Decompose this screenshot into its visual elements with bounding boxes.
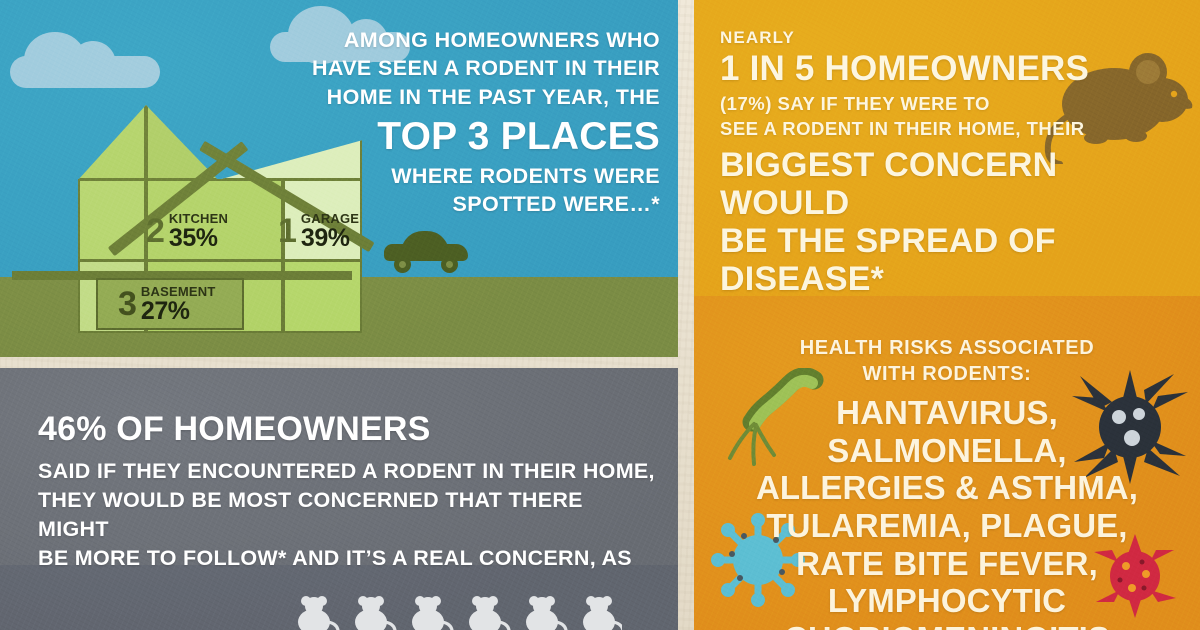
house-attic-left (78, 105, 146, 180)
yellow-line-1: (17%) SAY IF THEY WERE TO (720, 91, 1190, 116)
car-icon (384, 230, 468, 270)
health-risk-line-5: RATE BITE FEVER, (694, 545, 1200, 583)
health-risk-line-2: SALMONELLA, (694, 432, 1200, 470)
yellow-headline: 1 IN 5 HOMEOWNERS (720, 50, 1190, 88)
gray-line-1: SAID IF THEY ENCOUNTERED A RODENT IN THE… (38, 457, 658, 486)
health-risk-line-3: ALLERGIES & ASTHMA, (694, 469, 1200, 507)
headline-line-2: HAVE SEEN A RODENT IN THEIR (308, 54, 660, 82)
yellow-line-2: SEE A RODENT IN THEIR HOME, THEIR (720, 116, 1190, 141)
infographic-poster: 1 GARAGE 39% 2 KITCHEN 35% 3 BASEMENT 27… (0, 0, 1200, 630)
health-risks-copy: HEALTH RISKS ASSOCIATED WITH RODENTS: HA… (694, 336, 1200, 630)
headline-top-3-places: TOP 3 PLACES (308, 115, 660, 159)
yellow-kicker: NEARLY (720, 28, 1190, 48)
headline-line-4: WHERE RODENTS WERE (308, 162, 660, 190)
panel-health-risks: HEALTH RISKS ASSOCIATED WITH RODENTS: HA… (694, 296, 1200, 630)
headline-line-1: AMONG HOMEOWNERS WHO (308, 26, 660, 54)
headline-line-5: SPOTTED WERE…* (308, 190, 660, 218)
yellow-panel-copy: NEARLY 1 IN 5 HOMEOWNERS (17%) SAY IF TH… (720, 28, 1190, 296)
room-rank-kitchen: 2 (146, 217, 164, 246)
room-label-kitchen: 2 KITCHEN 35% (146, 212, 228, 251)
health-risk-line-1: HANTAVIRUS, (694, 394, 1200, 432)
mouse-group-icon (292, 586, 622, 630)
health-risks-heading-line-2: WITH RODENTS: (694, 362, 1200, 388)
room-percent-kitchen: 35% (169, 226, 228, 251)
gray-line-2: THEY WOULD BE MOST CONCERNED THAT THERE … (38, 486, 658, 544)
health-risk-line-4: TULAREMIA, PLAGUE, (694, 507, 1200, 545)
mice-row-illustration (292, 586, 622, 630)
health-risk-line-6: LYMPHOCYTIC CHORIOMENINGITIS (694, 582, 1200, 630)
headline-line-3: HOME IN THE PAST YEAR, THE (308, 83, 660, 111)
room-percent-basement: 27% (141, 299, 216, 324)
health-risks-heading-line-1: HEALTH RISKS ASSOCIATED (694, 336, 1200, 362)
room-label-basement: 3 BASEMENT 27% (118, 285, 215, 324)
yellow-emphasis-line-2: BE THE SPREAD OF DISEASE* (720, 222, 1190, 296)
room-percent-garage: 39% (301, 226, 359, 251)
gray-panel-copy: 46% OF HOMEOWNERS SAID IF THEY ENCOUNTER… (38, 412, 658, 573)
yellow-emphasis-line-1: BIGGEST CONCERN WOULD (720, 146, 1190, 222)
gray-line-3: BE MORE TO FOLLOW* AND IT’S A REAL CONCE… (38, 544, 658, 573)
top-places-headline: AMONG HOMEOWNERS WHO HAVE SEEN A RODENT … (308, 26, 660, 219)
panel-disease-concern: NEARLY 1 IN 5 HOMEOWNERS (17%) SAY IF TH… (694, 0, 1200, 296)
room-rank-garage: 1 (278, 217, 296, 246)
panel-top-places: 1 GARAGE 39% 2 KITCHEN 35% 3 BASEMENT 27… (0, 0, 678, 357)
gray-headline: 46% OF HOMEOWNERS (38, 412, 658, 448)
room-rank-basement: 3 (118, 290, 136, 319)
